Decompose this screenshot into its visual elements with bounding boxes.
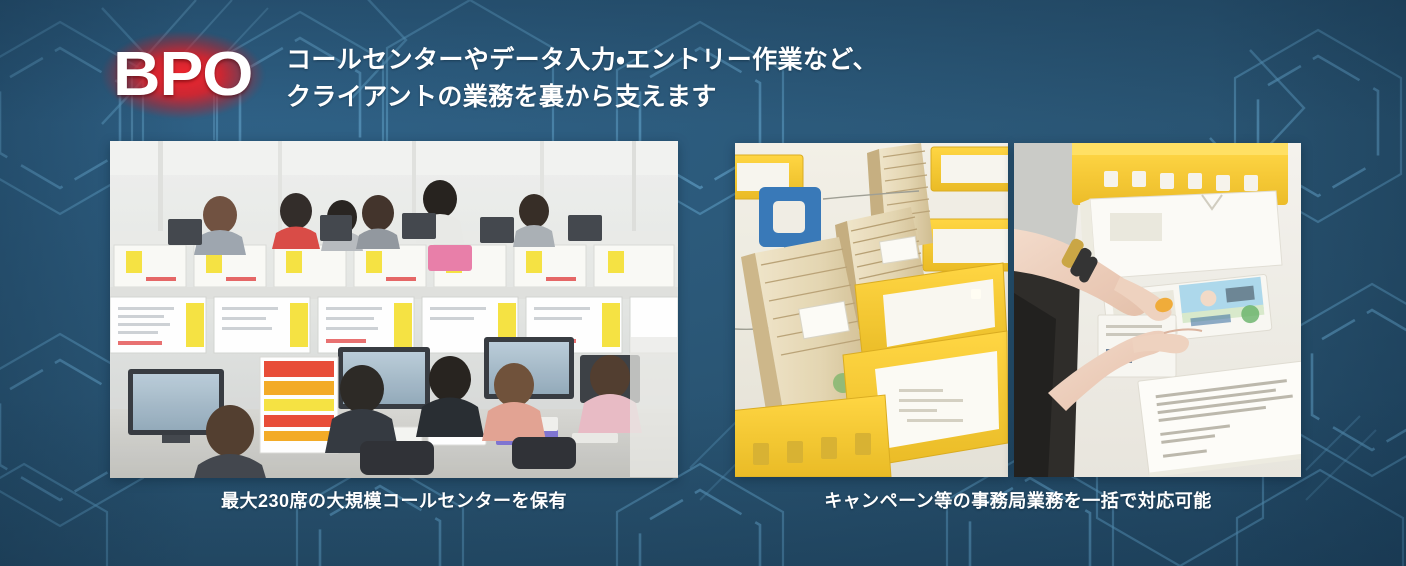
headline-line-1: コールセンターやデータ入力・エントリー作業など、 bbox=[286, 42, 878, 79]
logo-text: BPO bbox=[113, 44, 252, 106]
photo-crates-image bbox=[735, 143, 1008, 477]
bpo-banner: BPO コールセンターやデータ入力・エントリー作業など、 クライアントの業務を裏… bbox=[0, 0, 1406, 566]
caption-office-work: キャンペーン等の事務局業務を一括で対応可能 bbox=[735, 487, 1301, 513]
photo-sorting-image bbox=[1014, 143, 1301, 477]
photo-call-center-office bbox=[110, 141, 678, 478]
headline-line-2: クライアントの業務を裏から支えます bbox=[286, 79, 878, 116]
bpo-logo: BPO bbox=[104, 38, 262, 112]
photo-call-center-image bbox=[110, 141, 678, 478]
photo-yellow-crates-envelopes bbox=[735, 143, 1008, 477]
page-title: コールセンターやデータ入力・エントリー作業など、 クライアントの業務を裏から支え… bbox=[286, 38, 878, 116]
header: BPO コールセンターやデータ入力・エントリー作業など、 クライアントの業務を裏… bbox=[104, 38, 878, 116]
photo-hands-sorting-documents bbox=[1014, 143, 1301, 477]
caption-call-center: 最大230席の大規模コールセンターを保有 bbox=[110, 487, 678, 513]
